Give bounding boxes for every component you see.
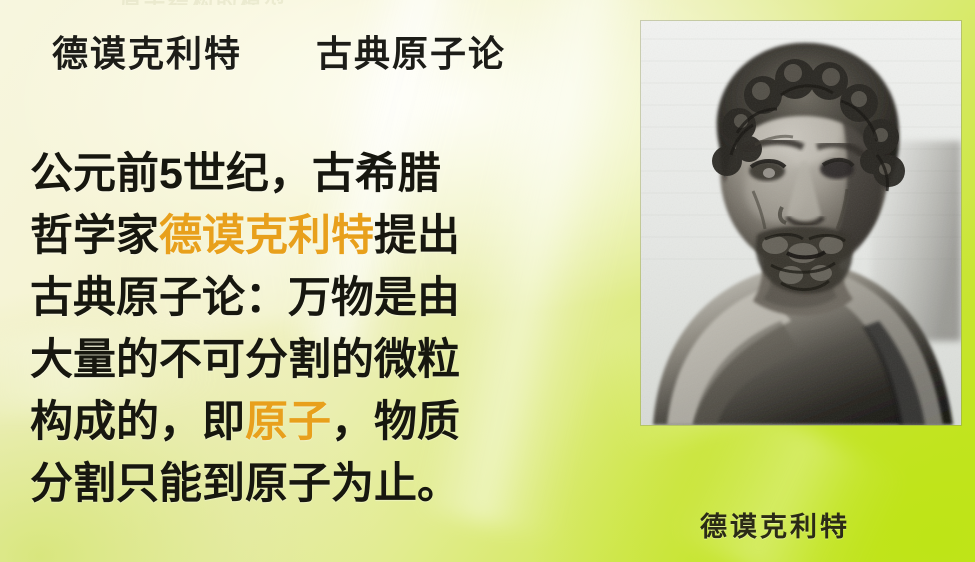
highlighted-keyword: 德谟克利特 [159, 212, 374, 260]
body-text-run: 哲学家 [30, 212, 159, 260]
body-line: 公元前5世纪，古希腊 [30, 143, 635, 205]
slide-heading: 德谟克利特 古典原子论 [52, 25, 652, 77]
body-line: 构成的，即原子，物质 [30, 391, 635, 453]
body-text-run: 提出 [374, 212, 460, 260]
body-line: 分割只能到原子为止。 [30, 453, 635, 515]
body-number: 5 [159, 150, 183, 198]
heading-topic: 古典原子论 [316, 25, 506, 77]
body-text-run: 构成的，即 [30, 398, 245, 446]
slide-body-text: 公元前5世纪，古希腊哲学家德谟克利特提出古典原子论：万物是由大量的不可分割的微粒… [30, 143, 635, 515]
clipped-top-text-remnant: 二、原子结构的模型 [72, 0, 632, 5]
body-text-run: 公元前 [30, 150, 159, 198]
highlighted-keyword: 原子 [245, 398, 331, 446]
body-text-run: 古典原子论：万物是由 [30, 274, 460, 322]
body-line: 古典原子论：万物是由 [30, 267, 635, 329]
body-text-run: 分割只能到原子为止。 [30, 460, 460, 508]
body-text-run: 大量的不可分割的微粒 [30, 336, 460, 384]
heading-person-name: 德谟克利特 [52, 25, 242, 77]
democritus-portrait-photo [641, 21, 961, 425]
body-line: 哲学家德谟克利特提出 [30, 205, 635, 267]
photo-caption: 德谟克利特 [700, 505, 850, 544]
body-text-run: 世纪，古希腊 [183, 150, 441, 198]
body-line: 大量的不可分割的微粒 [30, 329, 635, 391]
presentation-slide: 二、原子结构的模型 德谟克利特 古典原子论 公元前5世纪，古希腊哲学家德谟克利特… [0, 0, 975, 562]
body-text-run: ，物质 [331, 398, 460, 446]
